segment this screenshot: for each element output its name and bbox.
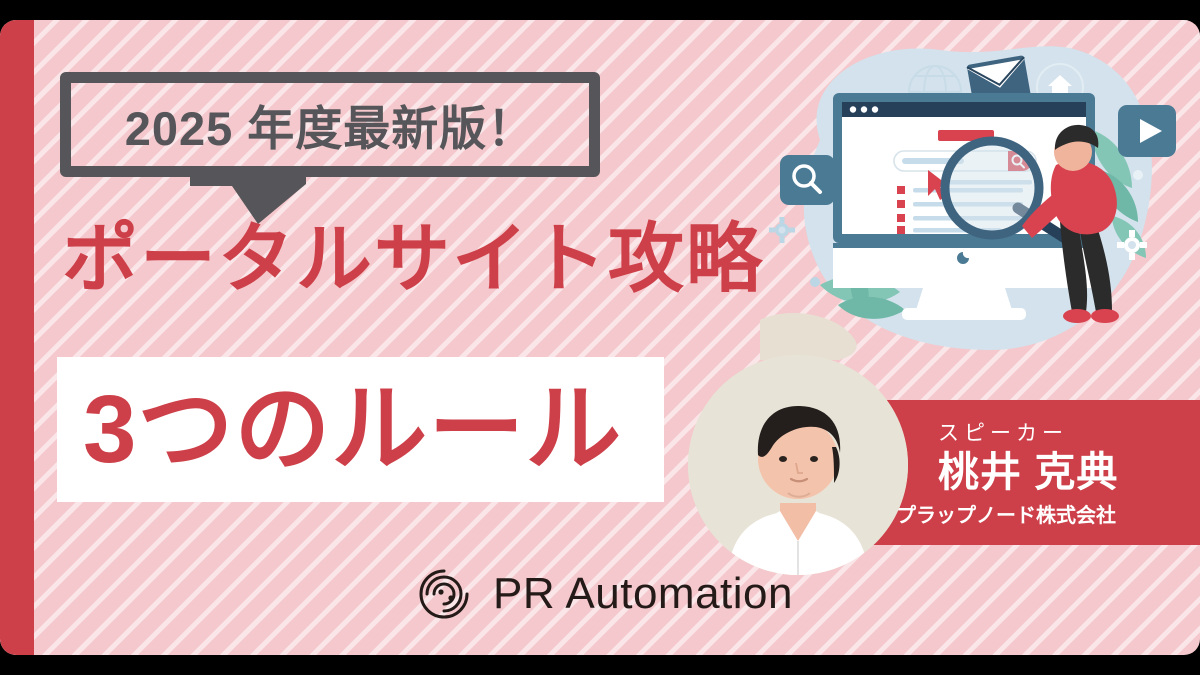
speaker-name: 桃井 克典 [938, 449, 1200, 496]
headline-line-2: 3つのルール [83, 382, 622, 478]
headline-line-1: ポータルサイト攻略 [62, 222, 764, 298]
kicker-speech-bubble: 2025 年度最新版！ [60, 72, 600, 217]
speaker-avatar [688, 355, 908, 575]
brand-logo: PR Automation [415, 565, 793, 623]
logo-wordmark: PR Automation [493, 569, 793, 619]
play-icon [1118, 105, 1176, 157]
shoe [1063, 309, 1091, 323]
kicker-text: 2025 年度最新版！ [60, 72, 600, 177]
dot-decoration [810, 277, 820, 287]
search-icon [780, 155, 835, 205]
gear-icon [769, 217, 795, 243]
spiral-swirl-icon [415, 565, 473, 623]
browser-dot [872, 106, 878, 112]
browser-dot [850, 106, 856, 112]
beige-blob [760, 313, 857, 360]
shoe [1091, 309, 1119, 323]
headline-highlight-box: 3つのルール [57, 357, 664, 502]
dot-decoration [1133, 170, 1143, 180]
search-portal-illustration [760, 20, 1200, 360]
speaker-role-label: スピーカー [938, 417, 1200, 447]
webinar-title-slide: 2025 年度最新版！ ポータルサイト攻略 3つのルール スピーカー 桃井 克典… [0, 20, 1200, 655]
browser-dot [861, 106, 867, 112]
left-accent-bar [0, 20, 34, 655]
speaker-organization: プラップノード株式会社 [896, 499, 1200, 528]
speaker-panel: スピーカー 桃井 克典 プラップノード株式会社 [860, 400, 1200, 545]
browser-titlebar [842, 102, 1086, 117]
screenshot-stage: 2025 年度最新版！ ポータルサイト攻略 3つのルール スピーカー 桃井 克典… [0, 0, 1200, 675]
